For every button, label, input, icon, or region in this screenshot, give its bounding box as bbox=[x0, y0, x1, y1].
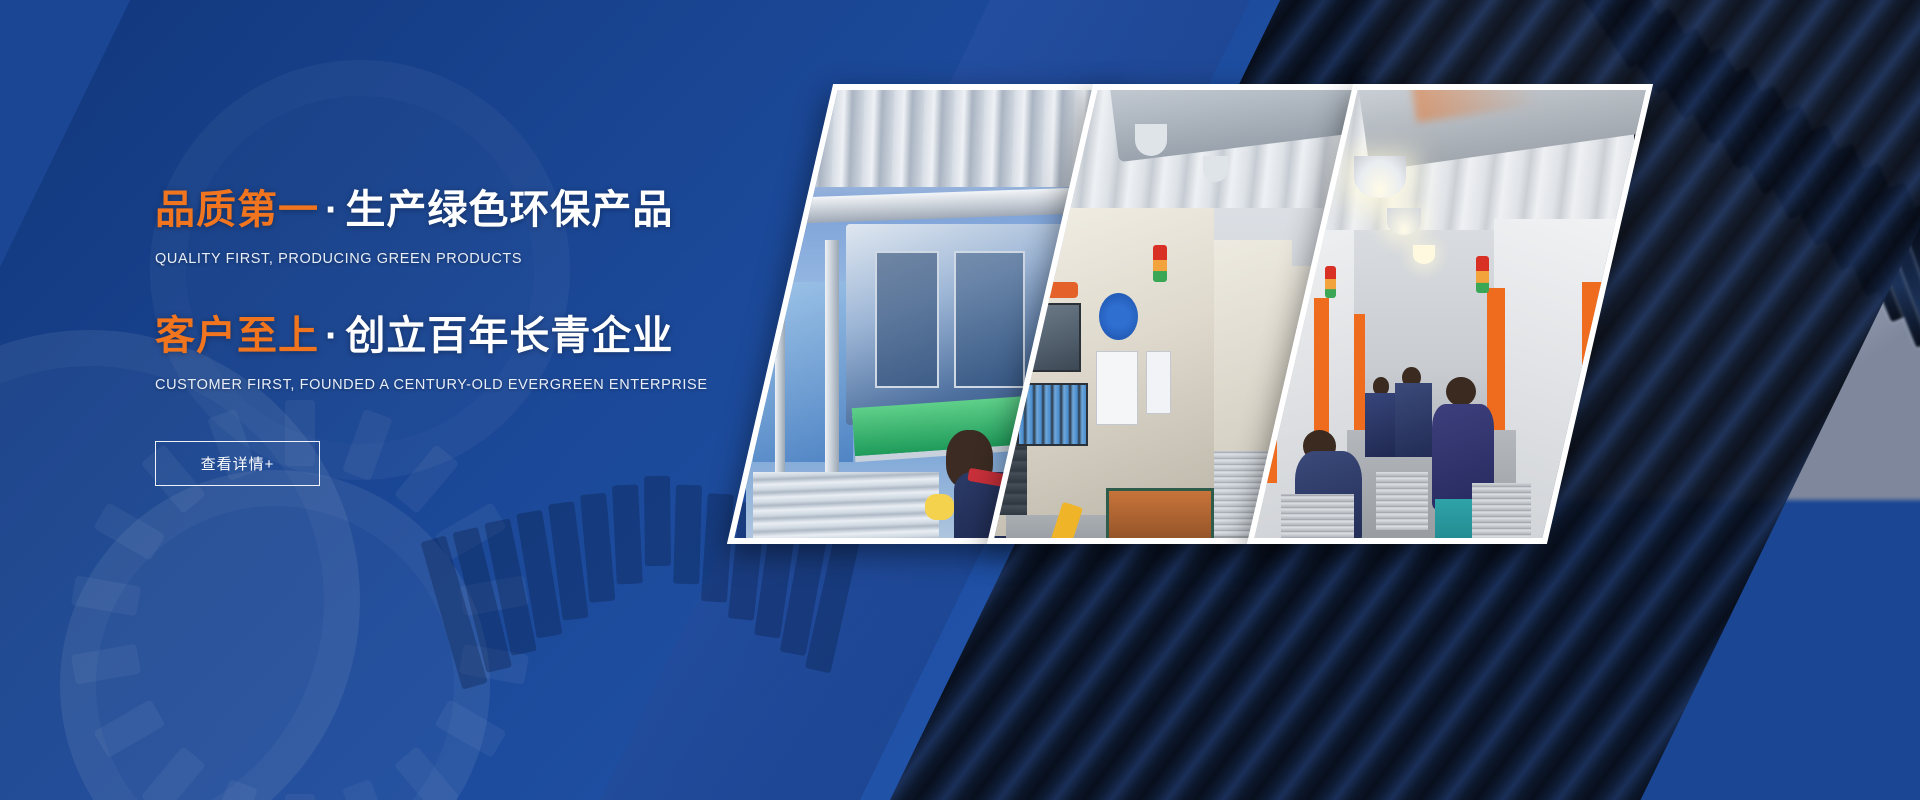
subtitle-primary: QUALITY FIRST, PRODUCING GREEN PRODUCTS bbox=[155, 251, 795, 267]
headline-primary: 品质第一·生产绿色环保产品 bbox=[155, 185, 795, 235]
headline-primary-accent: 品质第一 bbox=[155, 188, 319, 232]
headline-spacer bbox=[155, 267, 795, 311]
subtitle-secondary: CUSTOMER FIRST, FOUNDED A CENTURY-OLD EV… bbox=[155, 377, 795, 393]
photo-collage bbox=[640, 0, 1920, 800]
headline-secondary-accent: 客户至上 bbox=[155, 314, 319, 358]
headline-primary-rest: 生产绿色环保产品 bbox=[345, 188, 673, 232]
headline-primary-separator: · bbox=[319, 188, 345, 232]
view-details-button[interactable]: 查看详情+ bbox=[155, 441, 320, 486]
headline-secondary-separator: · bbox=[319, 314, 345, 358]
hero-content: 品质第一·生产绿色环保产品 QUALITY FIRST, PRODUCING G… bbox=[155, 185, 795, 486]
headline-secondary: 客户至上·创立百年长青企业 bbox=[155, 311, 795, 361]
hero-banner: 品质第一·生产绿色环保产品 QUALITY FIRST, PRODUCING G… bbox=[0, 0, 1920, 800]
headline-secondary-rest: 创立百年长青企业 bbox=[345, 314, 673, 358]
